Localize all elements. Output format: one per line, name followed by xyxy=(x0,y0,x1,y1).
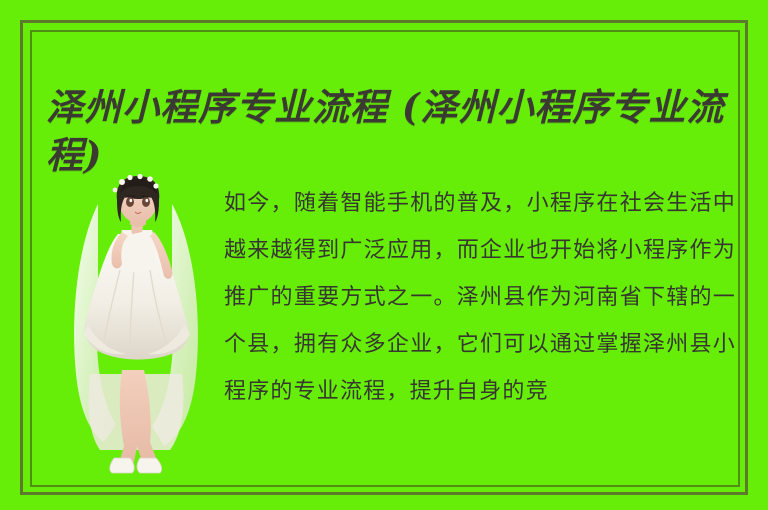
page-title: 泽州小程序专业流程 (泽州小程序专业流程) xyxy=(46,83,736,179)
article-illustration xyxy=(60,174,210,482)
article-paragraph: 如今，随着智能手机的普及，小程序在社会生活中越来越得到广泛应用，而企业也开始将小… xyxy=(224,180,736,415)
shoes-shape xyxy=(110,458,162,473)
anime-bride-illustration-svg xyxy=(60,174,210,482)
article-page: 泽州小程序专业流程 (泽州小程序专业流程) xyxy=(0,0,768,510)
article-body-area: 如今，随着智能手机的普及，小程序在社会生活中越来越得到广泛应用，而企业也开始将小… xyxy=(46,172,736,484)
head-shape xyxy=(113,174,160,227)
